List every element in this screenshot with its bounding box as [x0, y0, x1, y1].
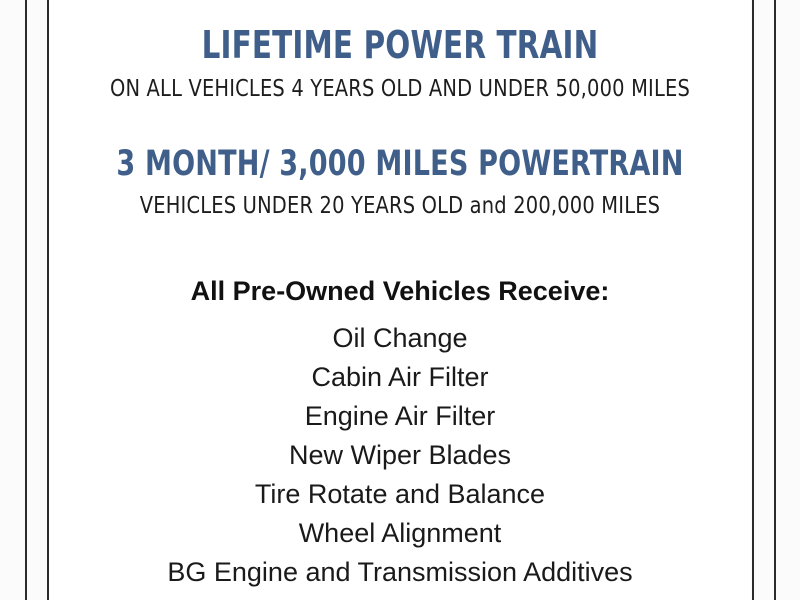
offer-headline-lifetime-powertrain: LIFETIME POWER TRAIN [98, 26, 702, 64]
service-item: Tire Rotate and Balance [49, 475, 751, 514]
service-item: BG Engine and Transmission Additives [49, 553, 751, 592]
border-rule-right-inner [752, 0, 754, 600]
offer-headline-three-month-powertrain: 3 MONTH/ 3,000 MILES POWERTRAIN [98, 147, 702, 182]
service-item: Oil Change [49, 319, 751, 358]
offer-block-lifetime-powertrain: LIFETIME POWER TRAIN ON ALL VEHICLES 4 Y… [49, 26, 751, 101]
offer-block-spacer [49, 101, 751, 147]
service-item: Cabin Air Filter [49, 358, 751, 397]
flyer-content: LIFETIME POWER TRAIN ON ALL VEHICLES 4 Y… [49, 0, 751, 592]
border-rule-right-outer [774, 0, 776, 600]
services-section: All Pre-Owned Vehicles Receive: Oil Chan… [49, 278, 751, 592]
services-list: Oil Change Cabin Air Filter Engine Air F… [49, 319, 751, 592]
service-item: Wheel Alignment [49, 514, 751, 553]
service-item: Engine Air Filter [49, 397, 751, 436]
offer-block-three-month-powertrain: 3 MONTH/ 3,000 MILES POWERTRAIN VEHICLES… [49, 147, 751, 218]
services-title: All Pre-Owned Vehicles Receive: [49, 278, 751, 305]
service-item: New Wiper Blades [49, 436, 751, 475]
offer-subline-lifetime-powertrain: ON ALL VEHICLES 4 YEARS OLD AND UNDER 50… [70, 78, 730, 101]
border-rule-left-outer [25, 0, 27, 600]
offer-subline-three-month-powertrain: VEHICLES UNDER 20 YEARS OLD and 200,000 … [70, 195, 730, 218]
flyer-page: LIFETIME POWER TRAIN ON ALL VEHICLES 4 Y… [0, 0, 800, 600]
